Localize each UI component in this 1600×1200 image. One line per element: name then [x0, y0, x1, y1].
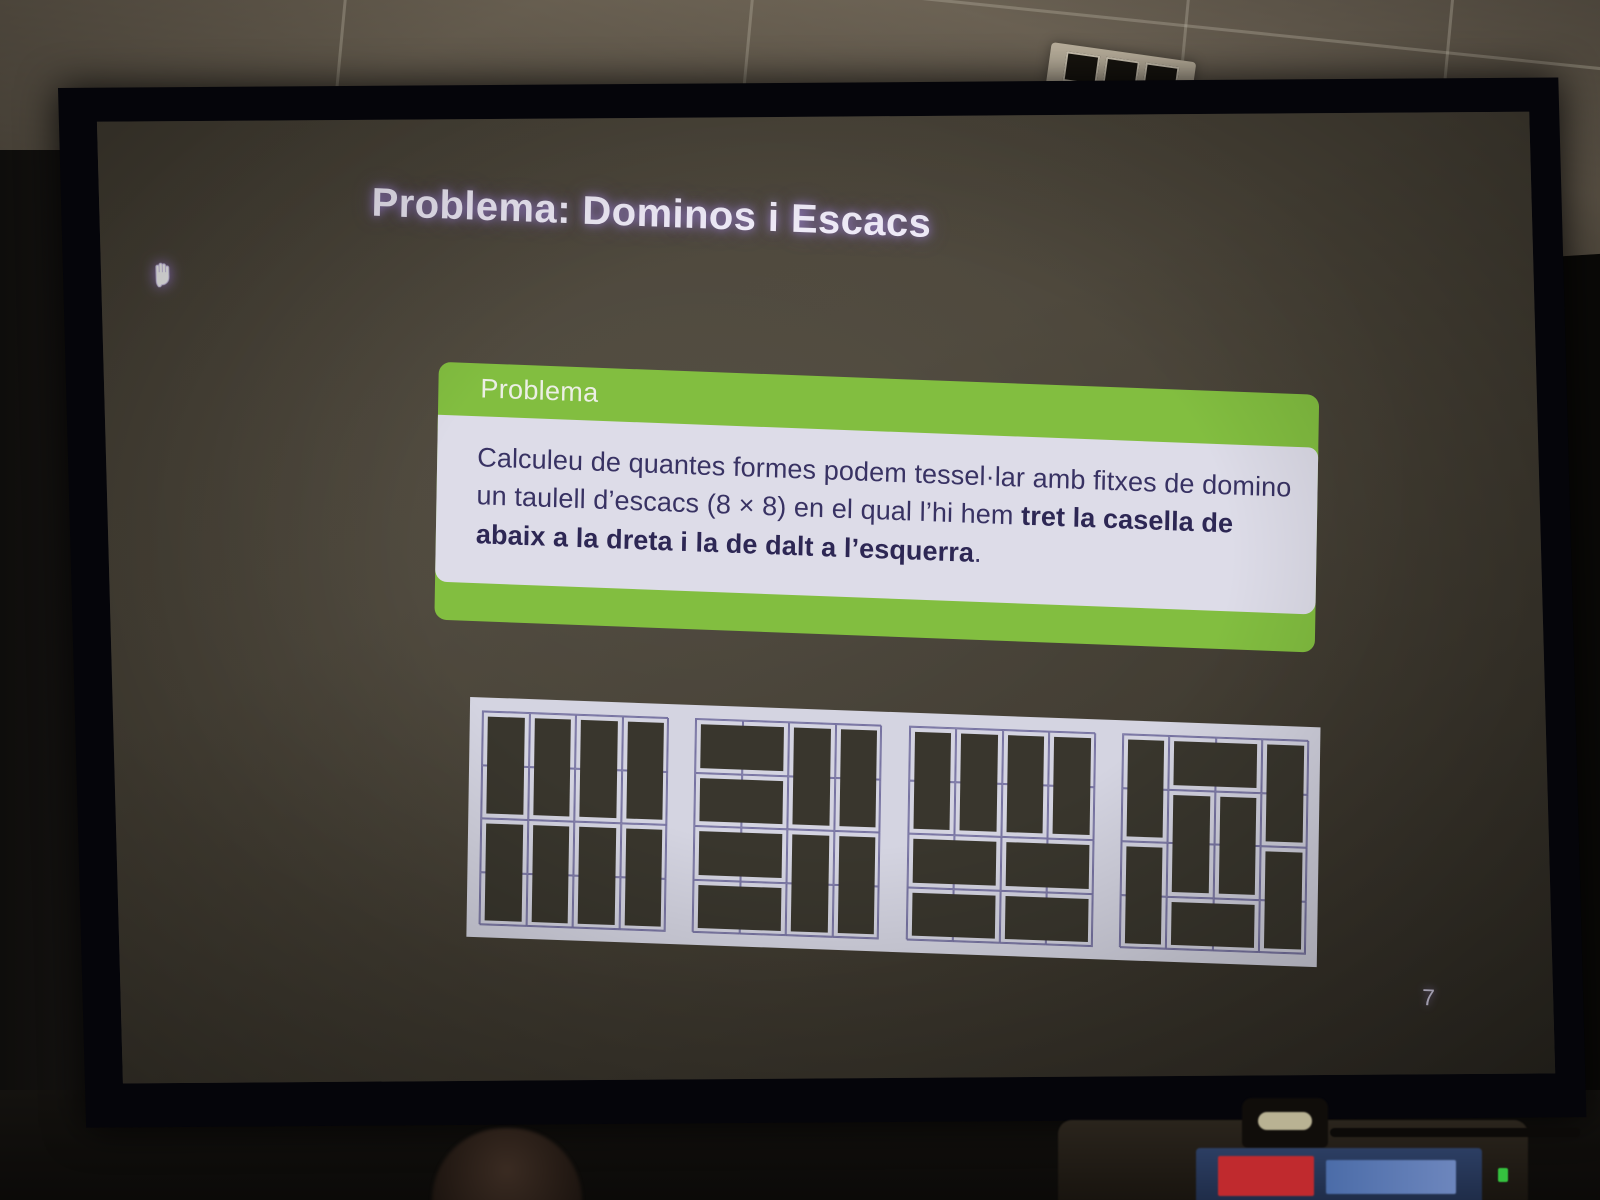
presentation-slide: Problema: Dominos i Escacs Problema Calc… — [97, 112, 1555, 1084]
domino-vertical — [1053, 737, 1091, 835]
domino-vertical — [1264, 851, 1302, 949]
domino-vertical — [1172, 795, 1210, 893]
domino-vertical — [838, 836, 876, 934]
domino-vertical — [1219, 796, 1257, 894]
domino-vertical — [486, 717, 524, 815]
microphone-boom — [1330, 1128, 1580, 1137]
domino-vertical — [1127, 739, 1165, 837]
block-body: Calculeu de quantes formes podem tessel·… — [435, 415, 1318, 615]
camera-lens-hood — [1242, 1098, 1328, 1148]
domino-horizontal — [1005, 842, 1089, 888]
block-line-3-period: . — [974, 537, 982, 567]
domino-vertical — [1125, 846, 1163, 944]
domino-vertical — [1006, 735, 1044, 833]
projection-screen-frame: Problema: Dominos i Escacs Problema Calc… — [58, 78, 1586, 1128]
block-line-2-bold: tret la casella de — [1021, 501, 1234, 539]
domino-horizontal — [1005, 896, 1089, 942]
domino-horizontal — [1174, 741, 1258, 787]
domino-horizontal — [699, 831, 783, 877]
domino-vertical — [839, 729, 877, 827]
domino-vertical — [960, 733, 998, 831]
pinwheel-mixed-tiling — [1119, 733, 1308, 953]
domino-vertical — [791, 834, 829, 932]
domino-vertical — [533, 718, 571, 816]
monitor-blue-region — [1326, 1160, 1456, 1194]
page-title: Problema: Dominos i Escacs — [371, 181, 1132, 255]
domino-horizontal — [912, 839, 996, 885]
all-vertical-tiling — [479, 710, 668, 930]
top-vertical-bottom-horizontal-tiling — [905, 726, 1094, 946]
domino-vertical — [624, 828, 662, 926]
hand-cursor-icon[interactable] — [151, 259, 176, 287]
left-horizontal-right-vertical-tiling — [692, 718, 881, 938]
monitor-red-region — [1218, 1156, 1314, 1196]
domino-horizontal — [1171, 901, 1255, 947]
domino-vertical — [531, 825, 569, 923]
domino-horizontal — [911, 892, 995, 938]
camera-lens — [1258, 1112, 1312, 1130]
domino-vertical — [579, 720, 617, 818]
lecture-hall-photo: Problema: Dominos i Escacs Problema Calc… — [0, 0, 1600, 1200]
camera-status-led — [1498, 1168, 1508, 1182]
ceiling-seam — [70, 0, 1600, 87]
domino-vertical — [913, 732, 951, 830]
domino-vertical — [626, 722, 664, 820]
domino-vertical — [1266, 744, 1304, 842]
domino-horizontal — [698, 885, 782, 931]
domino-vertical — [793, 728, 831, 826]
domino-tilings-figure — [466, 697, 1320, 967]
page-number: 7 — [1422, 984, 1435, 1011]
domino-vertical — [578, 827, 616, 925]
projection-screen-surface: Problema: Dominos i Escacs Problema Calc… — [97, 112, 1555, 1084]
domino-vertical — [485, 823, 523, 921]
problema-block: Problema Calculeu de quantes formes pode… — [435, 362, 1319, 615]
domino-horizontal — [700, 778, 784, 824]
camera-monitor-screen — [1196, 1148, 1482, 1200]
domino-horizontal — [701, 724, 785, 770]
